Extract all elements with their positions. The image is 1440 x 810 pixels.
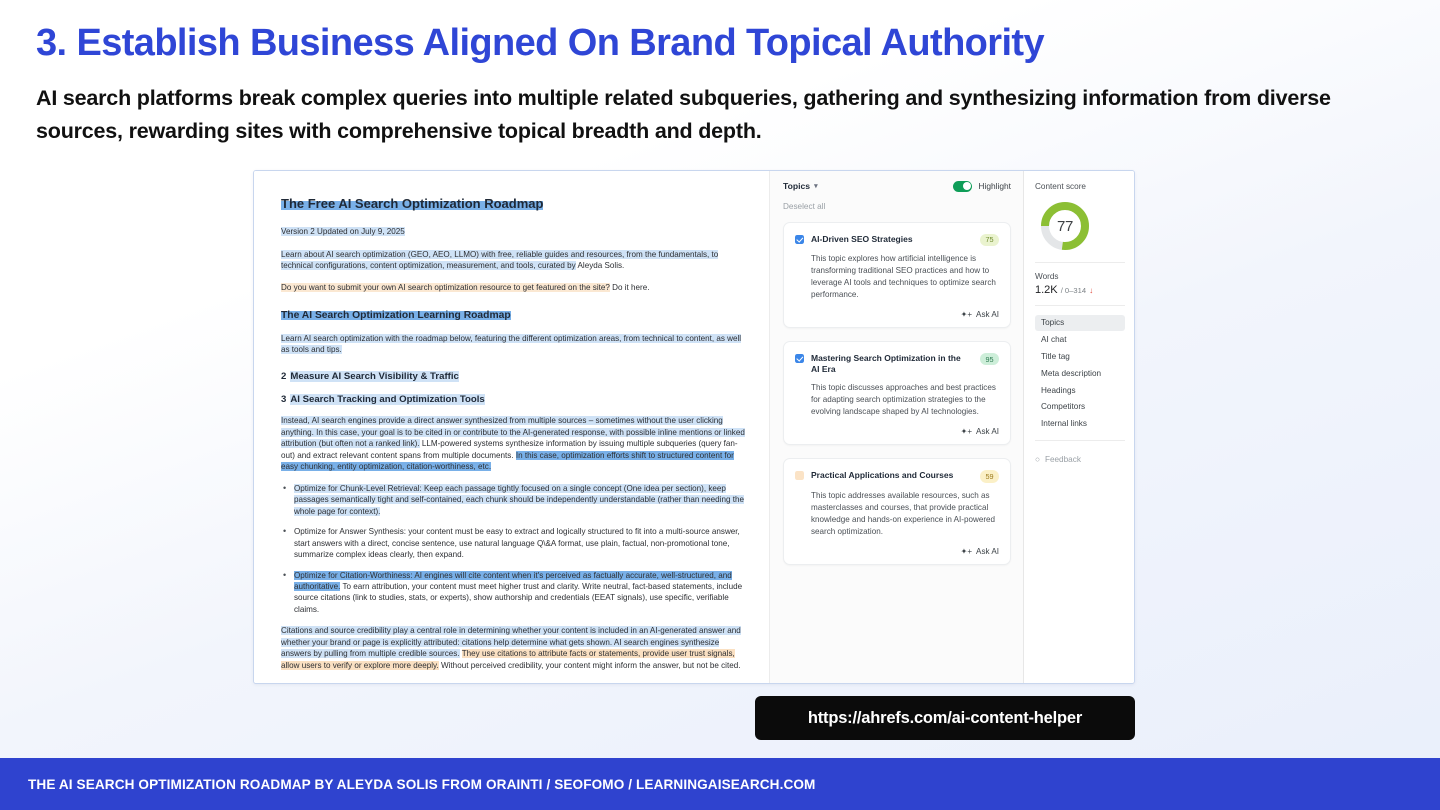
topic-title: Practical Applications and Courses [811,470,973,481]
sidebar-item-headings[interactable]: Headings [1035,382,1125,398]
sidebar-item-meta-description[interactable]: Meta description [1035,365,1125,381]
topic-checkbox[interactable] [795,235,804,244]
page-subtitle: AI search platforms break complex querie… [36,82,1386,147]
list-item: Optimize for Chunk-Level Retrieval: Keep… [281,483,747,517]
topic-description: This topic explores how artificial intel… [811,253,999,301]
highlight-label: Highlight [978,181,1011,191]
topics-header: Topics ▾ Highlight [783,181,1011,192]
ask-ai-button[interactable]: ✦+ Ask AI [795,310,999,319]
words-count: 1.2K [1035,284,1058,296]
page-title: 3. Establish Business Aligned On Brand T… [36,22,1416,65]
ask-ai-label: Ask AI [976,427,999,436]
topic-checkbox[interactable] [795,354,804,363]
topics-panel: Topics ▾ Highlight Deselect all AI-Drive… [769,171,1024,683]
topic-description: This topic addresses available resources… [811,490,999,538]
doc-roadmap-paragraph: Learn AI search optimization with the ro… [281,333,747,356]
topics-dropdown[interactable]: Topics ▾ [783,181,818,191]
words-label: Words [1035,272,1125,281]
topic-checkbox[interactable] [795,471,804,480]
topic-card[interactable]: Mastering Search Optimization in the AI … [783,341,1011,445]
sidebar-item-topics[interactable]: Topics [1035,315,1125,331]
doc-numbered-item: 3AI Search Tracking and Optimization Too… [281,393,747,407]
doc-submit-paragraph: Do you want to submit your own AI search… [281,282,747,293]
footer-bar: THE AI SEARCH OPTIMIZATION ROADMAP BY AL… [0,758,1440,810]
topic-score-badge: 59 [980,470,999,483]
content-score-value: 77 [1039,200,1091,252]
doc-numbered-item: 2Measure AI Search Visibility & Traffic [281,370,747,384]
topic-score-badge: 95 [980,353,999,366]
sidebar-item-title-tag[interactable]: Title tag [1035,349,1125,365]
footer-text: THE AI SEARCH OPTIMIZATION ROADMAP BY AL… [28,777,815,792]
topic-card[interactable]: Practical Applications and Courses 59 Th… [783,458,1011,564]
doc-bullet-list: Optimize for Chunk-Level Retrieval: Keep… [281,483,747,616]
doc-heading-1: The Free AI Search Optimization Roadmap [281,201,543,210]
ask-ai-label: Ask AI [976,310,999,319]
arrow-down-icon: ↓ [1089,286,1093,295]
words-range: / 0–314 [1061,286,1086,295]
sidebar-item-internal-links[interactable]: Internal links [1035,416,1125,432]
topic-card[interactable]: AI-Driven SEO Strategies 75 This topic e… [783,222,1011,328]
score-sidebar: Content score 77 Words 1.2K / 0–314 ↓ [1024,171,1134,683]
toggle-switch[interactable] [953,181,972,192]
slide-page: 3. Establish Business Aligned On Brand T… [0,0,1440,810]
list-item: Optimize for Answer Synthesis: your cont… [281,526,747,560]
highlight-toggle[interactable]: Highlight [953,181,1011,192]
words-value-row: 1.2K / 0–314 ↓ [1035,284,1125,296]
app-screenshot: The Free AI Search Optimization Roadmap … [253,170,1135,684]
content-score-donut: 77 [1039,200,1091,252]
ask-ai-label: Ask AI [976,547,999,556]
doc-instead-paragraph: Instead, AI search engines provide a dir… [281,415,747,472]
url-pill[interactable]: https://ahrefs.com/ai-content-helper [755,696,1135,740]
sparkle-icon: ✦+ [961,310,972,319]
topic-description: This topic discusses approaches and best… [811,382,999,418]
doc-citations-paragraph: Citations and source credibility play a … [281,625,747,671]
chevron-down-icon: ▾ [814,182,818,190]
topic-title: AI-Driven SEO Strategies [811,234,973,245]
content-score-label: Content score [1035,182,1125,191]
sidebar-item-ai-chat[interactable]: AI chat [1035,332,1125,348]
ask-ai-button[interactable]: ✦+ Ask AI [795,547,999,556]
feedback-label: Feedback [1045,455,1081,464]
sidebar-item-competitors[interactable]: Competitors [1035,399,1125,415]
deselect-all-link[interactable]: Deselect all [783,202,1011,211]
doc-heading-2: The AI Search Optimization Learning Road… [281,311,511,320]
sparkle-icon: ✦+ [961,547,972,556]
speech-bubble-icon: ○ [1035,455,1040,464]
topic-title: Mastering Search Optimization in the AI … [811,353,973,375]
ask-ai-button[interactable]: ✦+ Ask AI [795,427,999,436]
doc-version-line: Version 2 Updated on July 9, 2025 [281,227,405,236]
list-item: Optimize for Citation-Worthiness: AI eng… [281,570,747,616]
doc-intro-paragraph: Learn about AI search optimization (GEO,… [281,249,747,272]
topic-score-badge: 75 [980,234,999,247]
sparkle-icon: ✦+ [961,427,972,436]
document-editor[interactable]: The Free AI Search Optimization Roadmap … [254,171,769,683]
topics-label: Topics [783,181,810,191]
url-text: https://ahrefs.com/ai-content-helper [808,709,1082,728]
rail-nav: Topics AI chat Title tag Meta descriptio… [1035,315,1125,431]
feedback-button[interactable]: ○ Feedback [1035,455,1125,464]
